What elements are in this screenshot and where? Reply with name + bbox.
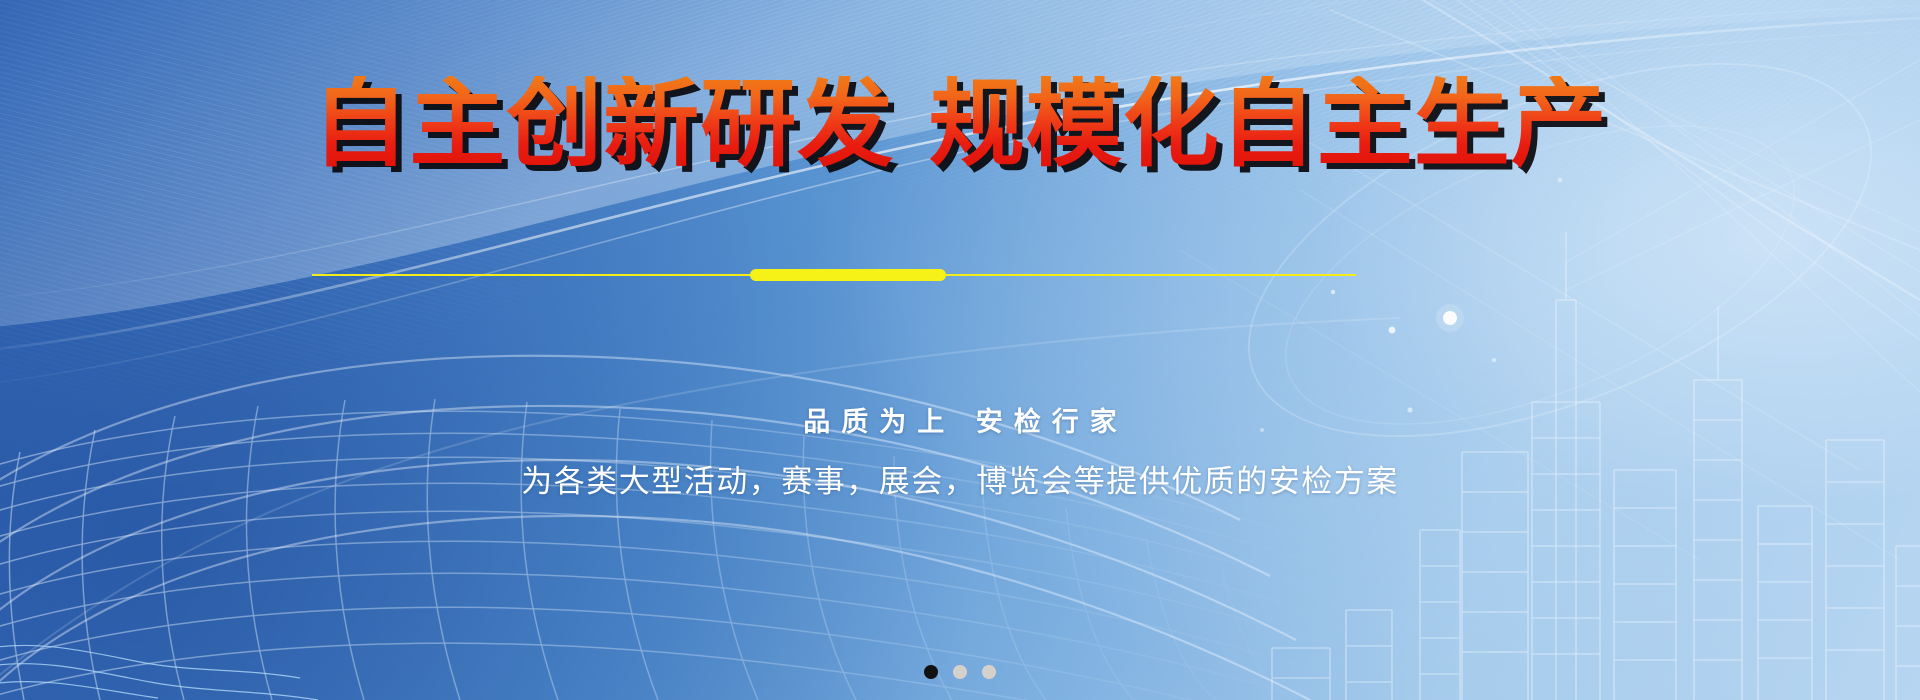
description-text: 为各类大型活动，赛事，展会，博览会等提供优质的安检方案 xyxy=(0,456,1920,501)
carousel-prev-button[interactable] xyxy=(0,0,70,700)
carousel-next-button[interactable] xyxy=(1850,0,1920,700)
carousel-dot-2[interactable] xyxy=(953,665,967,679)
divider xyxy=(0,268,1920,282)
carousel-dots[interactable] xyxy=(0,665,1920,679)
carousel-dot-3[interactable] xyxy=(982,665,996,679)
page-title: 自主创新研发 规模化自主生产 xyxy=(0,76,1920,172)
banner-content: 自主创新研发 规模化自主生产 品质为上 安检行家 为各类大型活动，赛事，展会，博… xyxy=(0,0,1920,700)
hero-banner-carousel[interactable]: 自主创新研发 规模化自主生产 品质为上 安检行家 为各类大型活动，赛事，展会，博… xyxy=(0,0,1920,700)
tagline: 品质为上 安检行家 xyxy=(0,400,1920,439)
carousel-dot-1[interactable] xyxy=(924,665,938,679)
divider-thick-bar xyxy=(750,269,946,281)
